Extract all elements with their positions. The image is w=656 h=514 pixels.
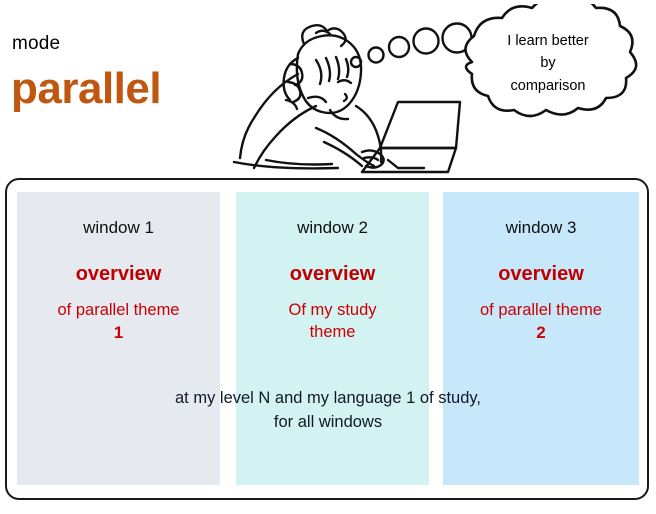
mode-value: parallel: [11, 66, 161, 112]
window-1-number: 1: [17, 322, 220, 344]
window-panel-3[interactable]: window 3 overview of parallel theme 2: [443, 192, 639, 485]
window-2-heading: overview: [236, 262, 429, 286]
window-3-number: 2: [443, 322, 639, 344]
window-2-label: window 2: [236, 218, 429, 238]
window-3-subtitle: of parallel theme: [443, 300, 639, 321]
window-panel-2[interactable]: window 2 overview Of my study theme: [236, 192, 429, 485]
window-1-label: window 1: [17, 218, 220, 238]
window-2-subtitle: Of my study theme: [236, 300, 429, 342]
header-area: mode parallel: [0, 0, 656, 175]
mode-label: mode: [12, 34, 60, 53]
window-1-subtitle: of parallel theme: [17, 300, 220, 321]
window-1-heading: overview: [17, 262, 220, 286]
window-3-heading: overview: [443, 262, 639, 286]
window-3-label: window 3: [443, 218, 639, 238]
window-panel-1[interactable]: window 1 overview of parallel theme 1: [17, 192, 220, 485]
thought-bubble-text: I learn better by comparison: [442, 30, 654, 97]
windows-row: window 1 overview of parallel theme 1 wi…: [17, 192, 639, 485]
